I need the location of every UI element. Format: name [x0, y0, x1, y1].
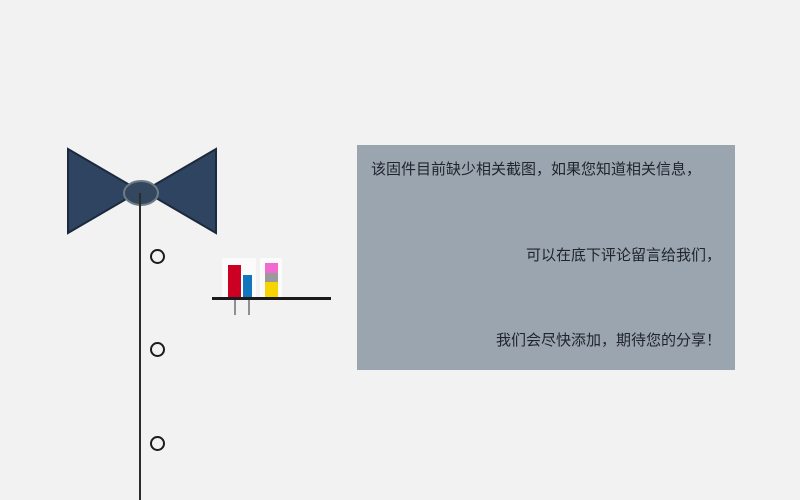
notice-line-2: 可以在底下评论留言给我们， [367, 245, 721, 265]
notice-line-1: 该固件目前缺少相关截图，如果您知道相关信息， [371, 159, 725, 179]
shirt-button-2 [150, 342, 165, 357]
blue-bar [243, 275, 252, 299]
stacked-bar-top [265, 263, 278, 273]
chart-baseline [212, 297, 331, 300]
stacked-bar-middle [265, 273, 278, 282]
bar-chart-icon [210, 258, 335, 318]
missing-screenshot-notice: 该固件目前缺少相关截图，如果您知道相关信息， 可以在底下评论留言给我们， 我们会… [357, 145, 735, 370]
chart-stem-right [248, 299, 250, 315]
bowtie-icon [60, 140, 225, 240]
notice-line-3: 我们会尽快添加，期待您的分享！ [367, 330, 721, 350]
chart-stem-left [234, 299, 236, 315]
shirt-button-1 [150, 249, 165, 264]
shirt-button-3 [150, 436, 165, 451]
bowtie-knot [124, 181, 158, 205]
shirt-placket-line [139, 193, 141, 500]
page-canvas: 该固件目前缺少相关截图，如果您知道相关信息， 可以在底下评论留言给我们， 我们会… [0, 0, 800, 500]
red-bar [228, 265, 241, 299]
stacked-bar-bottom [265, 282, 278, 299]
